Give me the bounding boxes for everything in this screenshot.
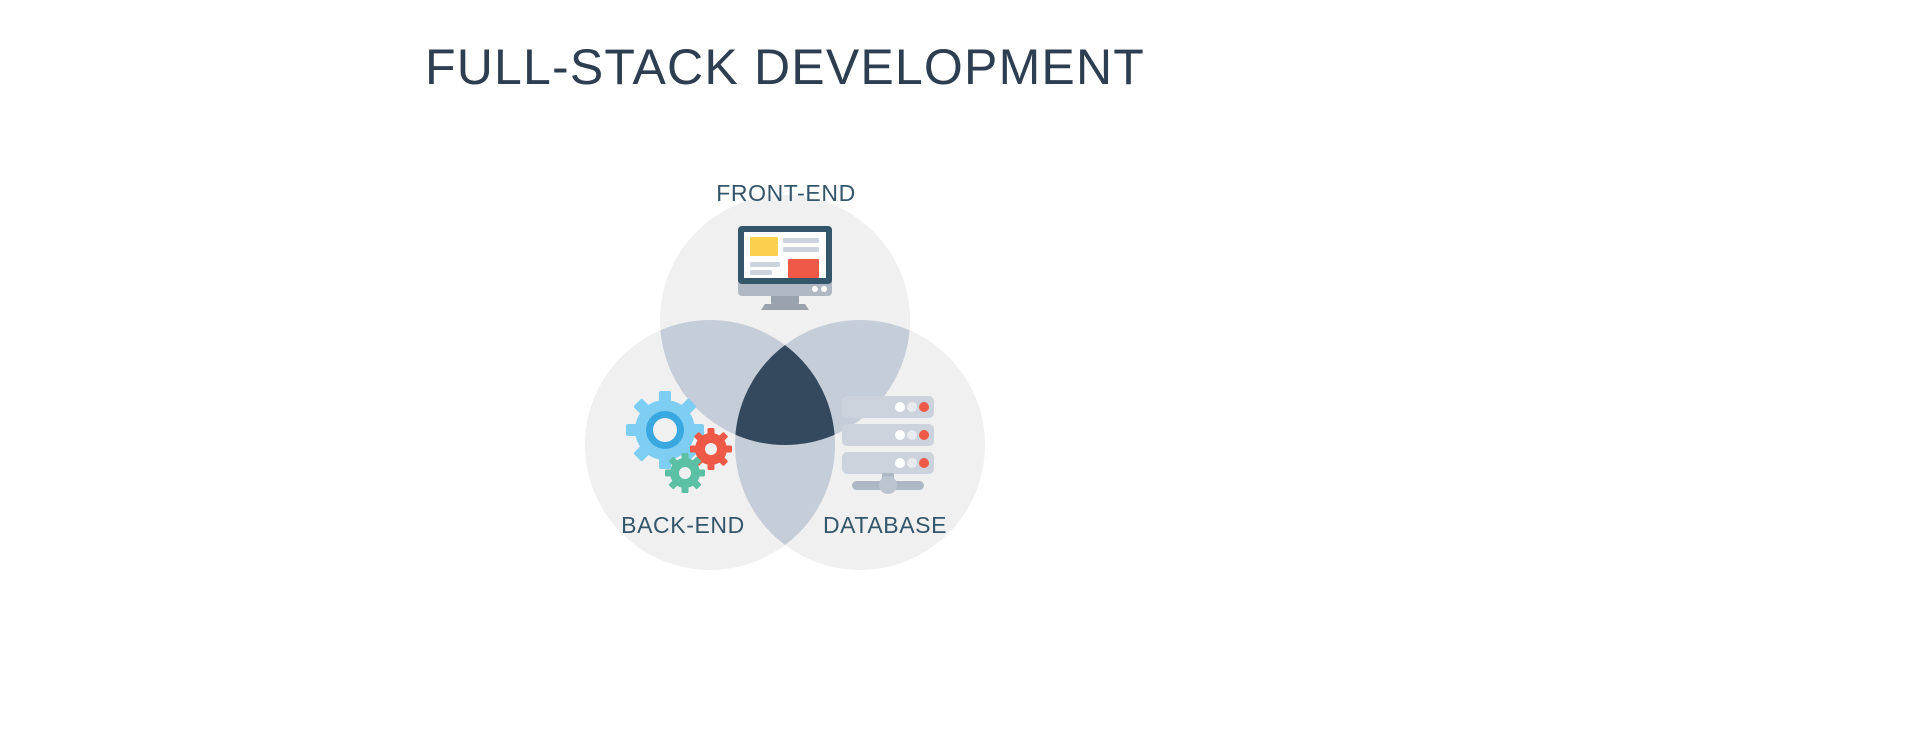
canvas: FULL-STACK DEVELOPMENT [0,0,1920,750]
server-icon [838,394,938,492]
venn-label-front-end: FRONT-END [631,180,941,207]
venn-label-database: DATABASE [730,512,1040,539]
gears-icon [628,392,734,492]
page-title: FULL-STACK DEVELOPMENT [0,38,1570,96]
monitor-icon [735,224,835,310]
